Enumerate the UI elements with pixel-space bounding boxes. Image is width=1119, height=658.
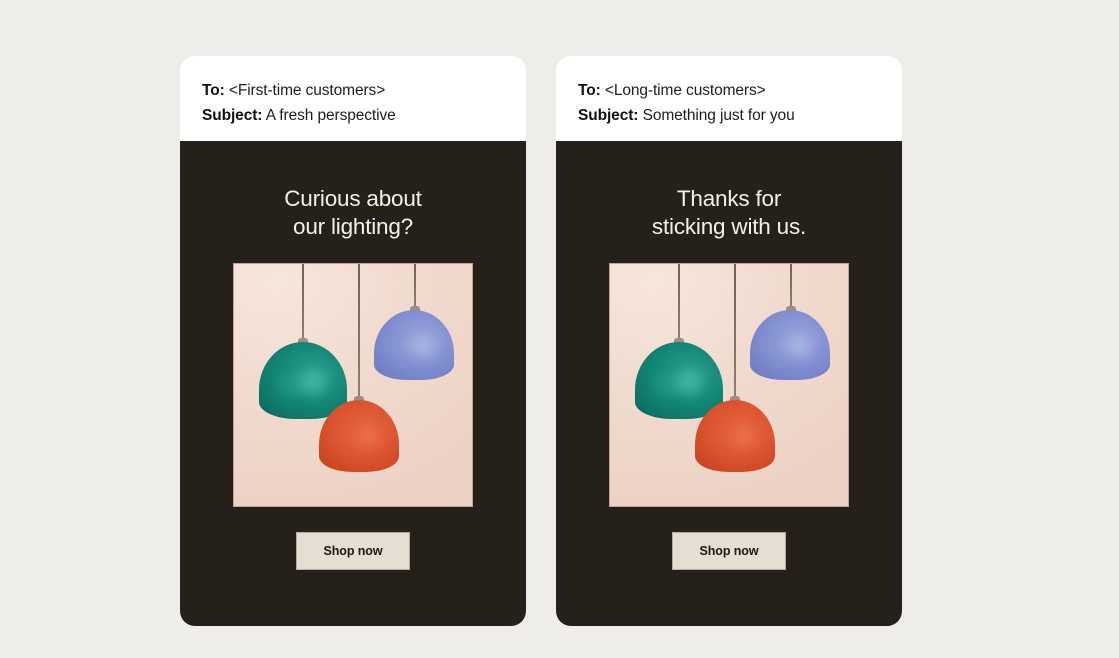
lamp-cord [358, 264, 360, 400]
lamp-highlight-secondary [338, 435, 354, 448]
subject-value: A fresh perspective [266, 107, 396, 124]
email-meta-header: To: <First-time customers> Subject: A fr… [180, 56, 526, 141]
email-body: Thanks for sticking with us. [556, 141, 902, 626]
recipient-label: To: [578, 82, 601, 99]
lamp-highlight-secondary [714, 435, 730, 448]
lamp-cord [790, 264, 792, 310]
subject-label: Subject: [578, 107, 638, 124]
lamp-highlight-secondary [280, 379, 298, 393]
subject-line: Subject: Something just for you [578, 103, 880, 128]
email-headline: Thanks for sticking with us. [652, 185, 806, 241]
lamp-highlight [787, 338, 811, 356]
lamp-highlight-secondary [656, 379, 674, 393]
email-headline: Curious about our lighting? [284, 185, 422, 241]
email-body: Curious about our lighting? [180, 141, 526, 626]
lamp-highlight [675, 373, 701, 393]
recipient-value: <First-time customers> [229, 82, 385, 99]
subject-value: Something just for you [643, 107, 795, 124]
shop-now-button[interactable]: Shop now [296, 532, 411, 570]
recipient-line: To: <Long-time customers> [578, 78, 880, 103]
lamp-highlight-secondary [769, 344, 785, 357]
lamp-cord [302, 264, 304, 342]
lamp-highlight [411, 338, 435, 356]
subject-label: Subject: [202, 107, 262, 124]
email-card-long-time-customers[interactable]: To: <Long-time customers> Subject: Somet… [556, 56, 902, 626]
recipient-value: <Long-time customers> [605, 82, 766, 99]
recipient-label: To: [202, 82, 225, 99]
shop-now-button[interactable]: Shop now [672, 532, 787, 570]
email-card-first-time-customers[interactable]: To: <First-time customers> Subject: A fr… [180, 56, 526, 626]
email-meta-header: To: <Long-time customers> Subject: Somet… [556, 56, 902, 141]
lamp-cord [414, 264, 416, 310]
subject-line: Subject: A fresh perspective [202, 103, 504, 128]
recipient-line: To: <First-time customers> [202, 78, 504, 103]
lamp-highlight [299, 373, 325, 393]
product-photo [609, 263, 849, 507]
lamp-highlight [732, 429, 756, 448]
lamp-cord [734, 264, 736, 400]
email-variant-comparison: To: <First-time customers> Subject: A fr… [0, 0, 1119, 658]
product-photo [233, 263, 473, 507]
lamp-cord [678, 264, 680, 342]
lamp-highlight [356, 429, 380, 448]
lamp-highlight-secondary [393, 344, 409, 357]
